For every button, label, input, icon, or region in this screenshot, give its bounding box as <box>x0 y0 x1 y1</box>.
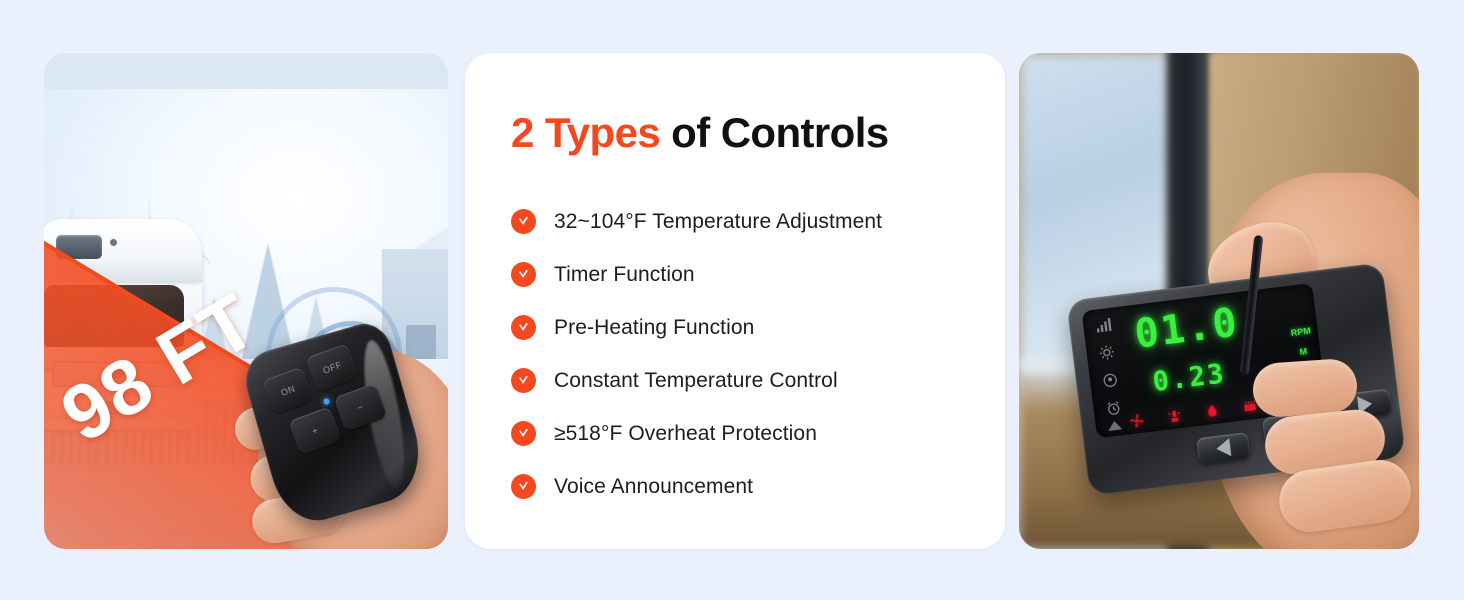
list-item: 32~104°F Temperature Adjustment <box>511 195 1005 248</box>
feature-label: Pre-Heating Function <box>554 316 754 340</box>
pump-icon <box>1204 403 1222 420</box>
up-caret-icon <box>1107 420 1122 431</box>
page-title: 2 Types of Controls <box>465 53 1005 157</box>
rpm-label: RPM <box>1290 326 1311 338</box>
product-feature-banner: 98 FT ON OFF + − 2 Types of Controls 32~… <box>0 0 1464 600</box>
rv-overcab <box>44 219 202 281</box>
list-item: Constant Temperature Control <box>511 354 1005 407</box>
check-circle-icon <box>511 315 536 340</box>
display-side-icons <box>1089 315 1131 420</box>
display-primary-row: 01.0 <box>1132 302 1240 354</box>
finger <box>1251 357 1359 418</box>
list-item: Voice Announcement <box>511 460 1005 513</box>
check-circle-icon <box>511 209 536 234</box>
feature-label: ≥518°F Overheat Protection <box>554 422 817 446</box>
glow-plug-icon <box>1166 408 1184 425</box>
features-card: 2 Types of Controls 32~104°F Temperature… <box>465 53 1005 549</box>
remote-on-button[interactable]: ON <box>262 367 314 415</box>
gear-icon <box>1098 343 1118 363</box>
signal-bars-icon <box>1094 316 1114 336</box>
triangle-left-icon <box>1215 438 1231 458</box>
feature-list: 32~104°F Temperature Adjustment Timer Fu… <box>465 157 1005 513</box>
title-accent: 2 Types <box>511 109 660 156</box>
left-product-photo: 98 FT ON OFF + − <box>44 53 448 549</box>
check-circle-icon <box>511 262 536 287</box>
remote-off-button[interactable]: OFF <box>306 343 360 392</box>
unit-label: M <box>1299 346 1308 357</box>
remote-plus-button[interactable]: + <box>288 406 342 455</box>
right-product-photo: 01.0 0.23 RPM M <box>1019 53 1419 549</box>
dial-icon <box>1101 371 1121 391</box>
feature-label: Voice Announcement <box>554 475 753 499</box>
check-circle-icon <box>511 368 536 393</box>
remote-led-icon <box>323 398 330 405</box>
rv-overcab-light <box>110 239 117 246</box>
alarm-clock-icon <box>1105 399 1125 419</box>
rv-overcab-window <box>56 235 102 259</box>
fan-icon <box>1129 412 1147 429</box>
check-circle-icon <box>511 474 536 499</box>
display-secondary-value: 0.23 <box>1151 360 1227 396</box>
feature-label: Timer Function <box>554 263 695 287</box>
list-item: ≥518°F Overheat Protection <box>511 407 1005 460</box>
list-item: Pre-Heating Function <box>511 301 1005 354</box>
display-secondary-row: 0.23 <box>1151 360 1227 396</box>
check-circle-icon <box>511 421 536 446</box>
feature-label: Constant Temperature Control <box>554 369 838 393</box>
display-primary-value: 01.0 <box>1132 302 1240 354</box>
controller-left-button[interactable] <box>1196 432 1251 464</box>
feature-label: 32~104°F Temperature Adjustment <box>554 210 882 234</box>
list-item: Timer Function <box>511 248 1005 301</box>
title-rest: of Controls <box>660 109 888 156</box>
